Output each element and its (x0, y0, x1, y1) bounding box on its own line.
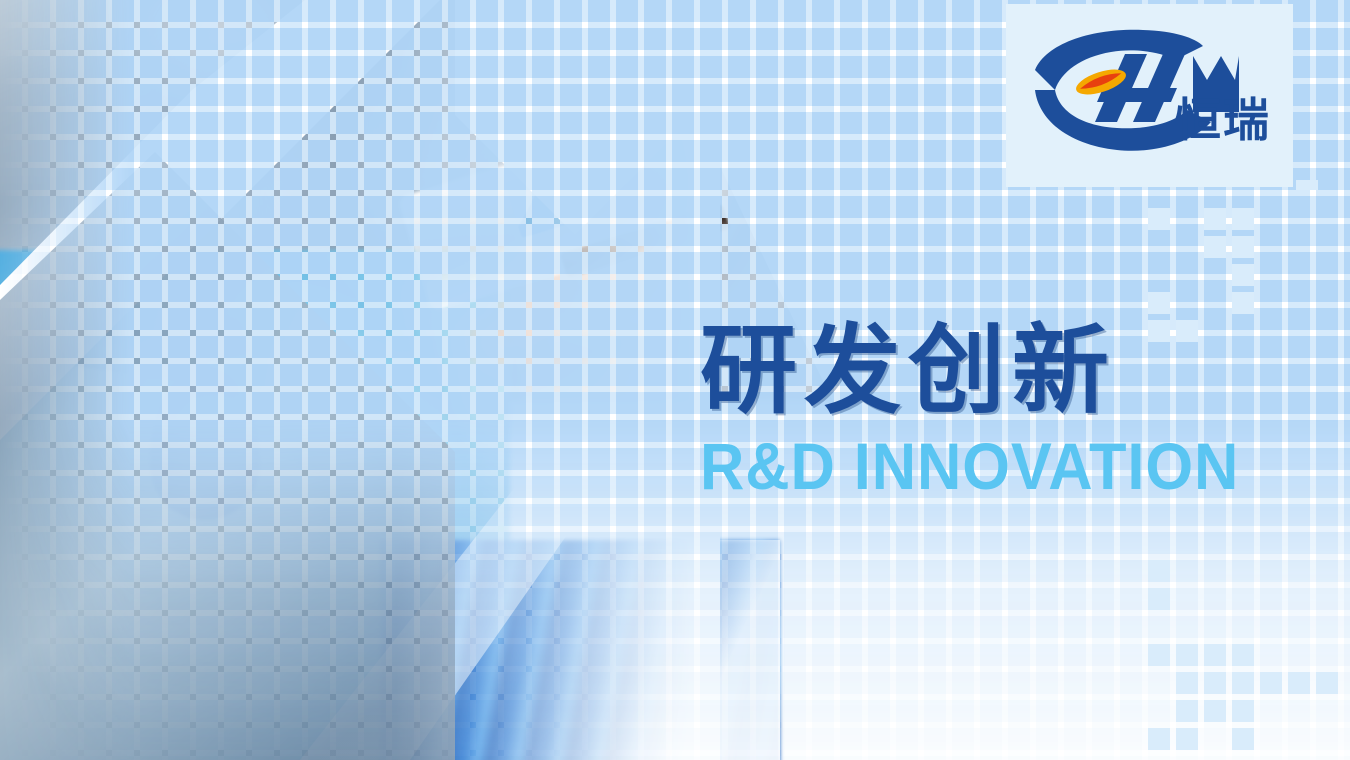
page-title-en: R&D INNOVATION (700, 433, 1258, 499)
logo-brand-text: 恒瑞 (1175, 93, 1271, 147)
hengrui-logo-mark: 恒瑞 (1025, 26, 1275, 166)
page-title-cn: 研发创新 (700, 322, 1300, 419)
logo-h-bar (1097, 88, 1177, 102)
hengrui-logo-box[interactable]: 恒瑞 (1006, 4, 1293, 187)
title-block: 研发创新 R&D INNOVATION (700, 322, 1300, 499)
rd-innovation-banner: 恒瑞 研发创新 R&D INNOVATION (0, 0, 1350, 760)
